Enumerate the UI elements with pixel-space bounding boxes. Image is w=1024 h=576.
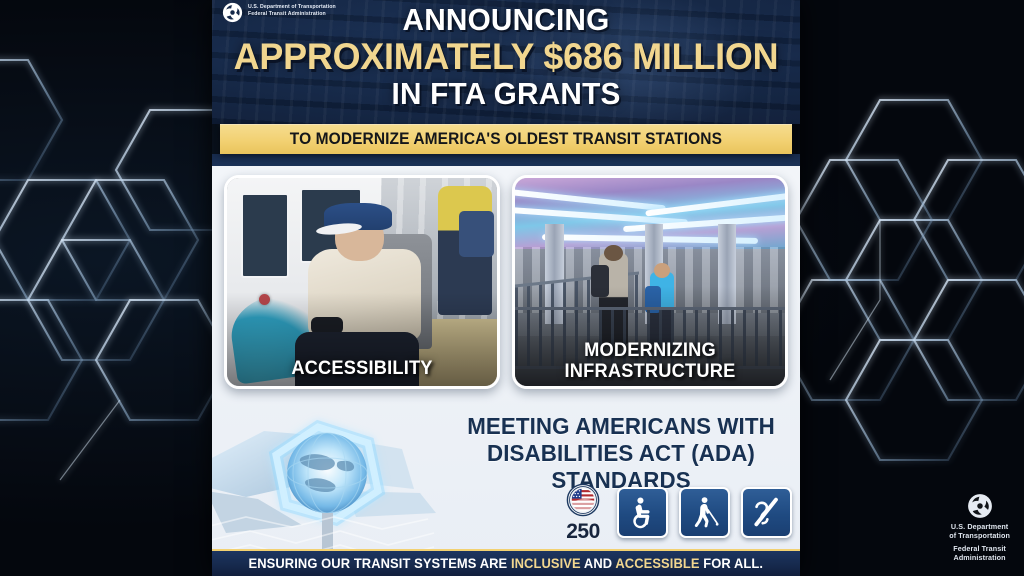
blind-white-cane-icon	[688, 495, 722, 529]
fta-grant-announcement-poster: U.S. Department of Transportation Federa…	[212, 0, 800, 576]
card-caption-line-2: INFRASTRUCTURE	[520, 361, 779, 382]
watermark-line-3: Federal Transit	[949, 544, 1010, 553]
card-caption-line-1: MODERNIZING	[520, 340, 779, 361]
title-line-3: IN FTA GRANTS	[224, 77, 788, 111]
agency-logo-lockup: U.S. Department of Transportation Federa…	[222, 2, 336, 23]
poster-header: U.S. Department of Transportation Federa…	[212, 0, 800, 124]
bottom-tagline-banner: ENSURING OUR TRANSIT SYSTEMS ARE INCLUSI…	[212, 549, 800, 576]
america-250-flag-seal-icon	[566, 483, 600, 517]
america-250-badge: 250	[560, 483, 606, 541]
watermark-line-2: of Transportation	[949, 531, 1010, 540]
america-250-number: 250	[560, 522, 606, 541]
tagline-highlight-inclusive: INCLUSIVE	[511, 556, 581, 571]
blind-white-cane-icon-tile	[679, 487, 730, 538]
card-caption-accessibility: ACCESSIBILITY	[232, 358, 491, 379]
photo-accessibility-illustration	[227, 178, 497, 386]
wheelchair-accessible-icon	[626, 495, 660, 529]
ada-standards-headline: MEETING AMERICANS WITH DISABILITIES ACT …	[455, 413, 788, 494]
yellow-banner-text: TO MODERNIZE AMERICA'S OLDEST TRANSIT ST…	[290, 130, 722, 149]
corner-watermark-logo: U.S. Department of Transportation Federa…	[949, 493, 1010, 562]
hearing-impaired-ear-icon	[750, 495, 784, 529]
tagline-prefix: ENSURING OUR TRANSIT SYSTEMS ARE	[249, 556, 511, 571]
card-caption-modernizing: MODERNIZING INFRASTRUCTURE	[520, 340, 779, 382]
agency-line-2: Federal Transit Administration	[248, 11, 336, 18]
dot-triskelion-icon	[222, 2, 243, 23]
ada-line-1: MEETING AMERICANS WITH	[455, 413, 788, 440]
bottom-tagline-text: ENSURING OUR TRANSIT SYSTEMS ARE INCLUSI…	[249, 556, 764, 571]
poster-body: ACCESSIBILITY MODERN	[212, 166, 800, 576]
watermark-line-4: Administration	[949, 553, 1010, 562]
hearing-impaired-ear-icon-tile	[741, 487, 792, 538]
dot-triskelion-icon	[967, 493, 993, 519]
title-line-2-amount: APPROXIMATELY $686 MILLION	[221, 37, 791, 77]
agency-logo-text: U.S. Department of Transportation Federa…	[248, 2, 336, 17]
navy-divider-strip	[212, 154, 800, 166]
tagline-suffix: FOR ALL.	[700, 556, 764, 571]
photo-card-modernizing-infrastructure: MODERNIZING INFRASTRUCTURE	[512, 175, 788, 389]
photo-card-row: ACCESSIBILITY MODERN	[212, 166, 800, 389]
wheelchair-accessible-icon-tile	[617, 487, 668, 538]
yellow-subtitle-banner: TO MODERNIZE AMERICA'S OLDEST TRANSIT ST…	[220, 124, 792, 154]
photo-card-accessibility: ACCESSIBILITY	[224, 175, 500, 389]
watermark-line-1: U.S. Department	[949, 522, 1010, 531]
accessibility-icon-row: 250	[560, 483, 792, 541]
agency-line-1: U.S. Department of Transportation	[248, 4, 336, 11]
tagline-middle: AND	[581, 556, 616, 571]
tagline-highlight-accessible: ACCESSIBLE	[616, 556, 700, 571]
